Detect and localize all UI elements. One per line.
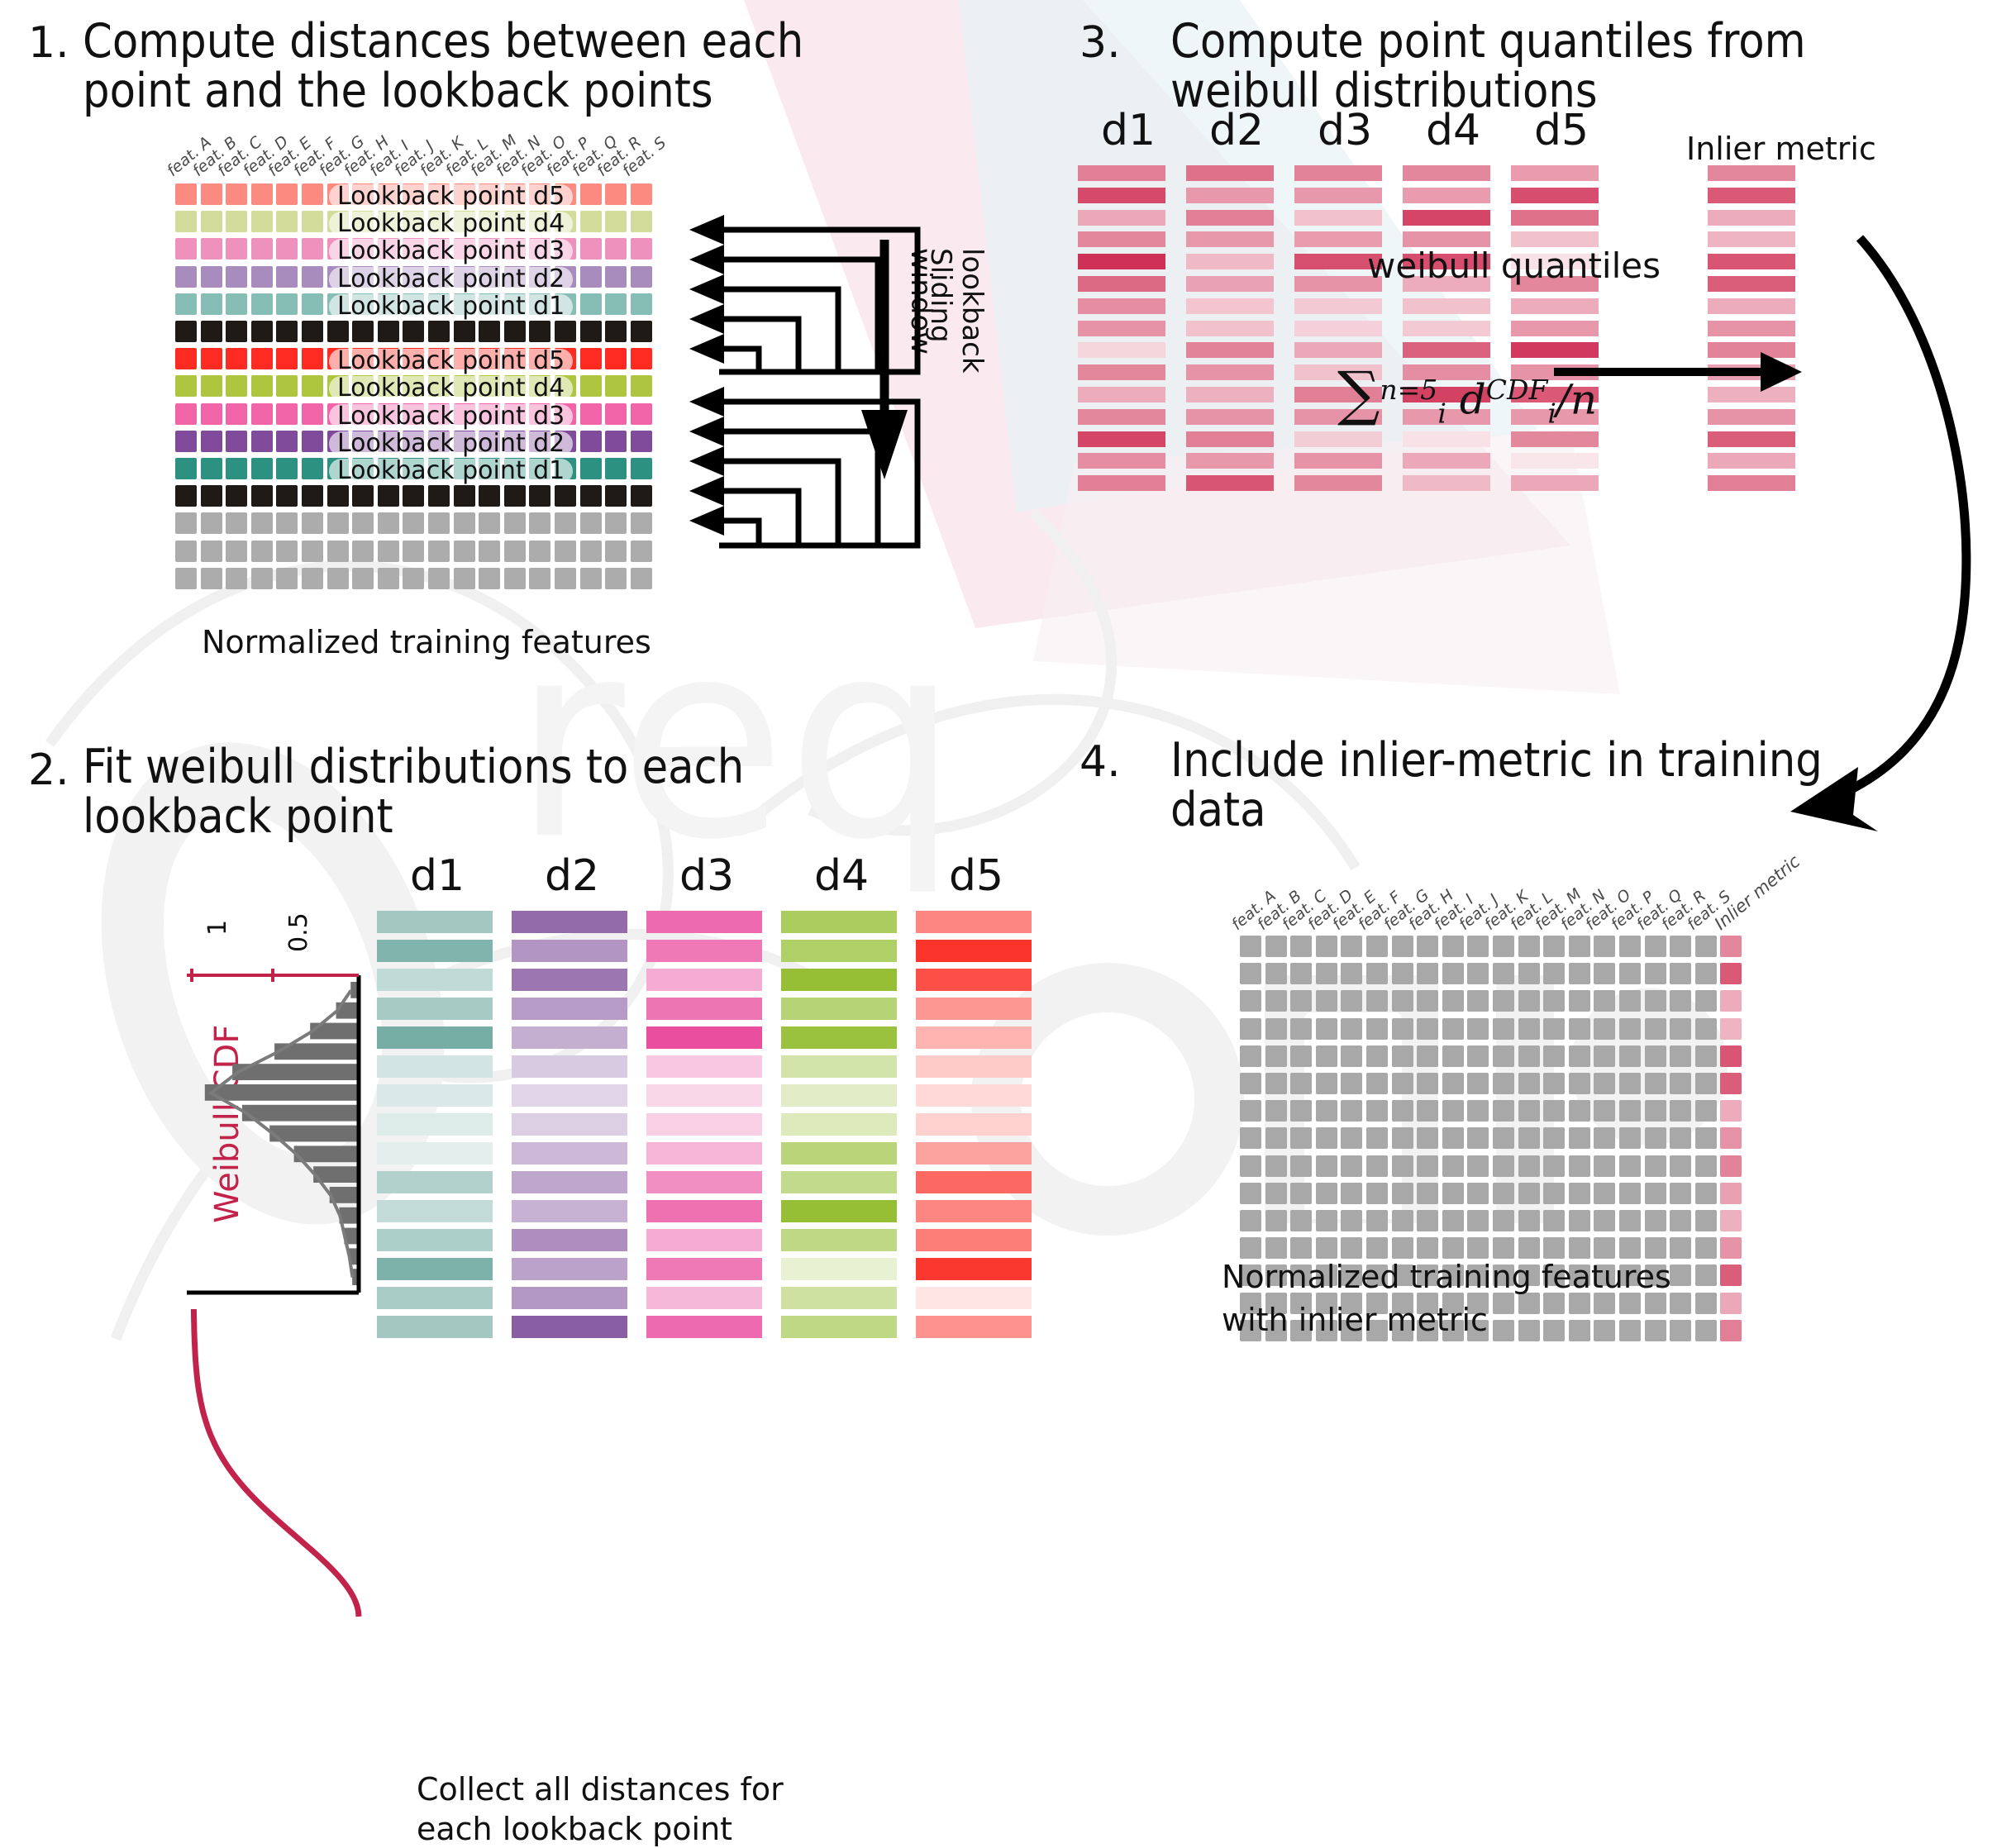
matrix-cell [1290,1210,1312,1231]
matrix-cell [1290,1155,1312,1177]
matrix-cell [1670,936,1691,957]
distance-bar [646,1084,762,1107]
lookback-row-label: Lookback point d2 [329,431,573,456]
matrix-cell [1619,1155,1641,1177]
distance-bar [916,1026,1032,1049]
panel-1-lookback-brackets [670,215,1017,579]
matrix-cell [175,458,197,479]
cdf-axis-tick-1: 1 [203,920,232,936]
matrix-cell [251,238,273,260]
matrix-cell [1290,1045,1312,1067]
matrix-cell [631,403,652,425]
matrix-cell [1569,1183,1590,1204]
matrix-cell [1569,1237,1590,1259]
quantile-column-label: d1 [1101,106,1156,155]
matrix-cell [1366,1237,1388,1259]
matrix-cell [1240,1073,1261,1094]
matrix-cell [276,458,298,479]
distance-bar [512,1200,627,1222]
matrix-cell [276,541,298,562]
matrix-cell [1240,990,1261,1012]
matrix-cell [403,485,424,507]
matrix-cell [251,375,273,397]
quantile-bar [1294,321,1382,336]
matrix-cell [1645,1155,1666,1177]
matrix-cell [352,541,374,562]
matrix-cell [631,211,652,232]
matrix-cell [1290,1183,1312,1204]
matrix-cell [251,568,273,589]
matrix-cell [1467,1100,1489,1122]
distance-bar [781,1287,897,1309]
lookback-row-label: Lookback point d3 [329,239,573,264]
matrix-cell [175,348,197,369]
matrix-cell [1543,1045,1565,1067]
matrix-cell [1442,990,1464,1012]
matrix-cell [1695,1045,1717,1067]
matrix-cell [302,211,323,232]
quantile-bar [1511,431,1599,447]
matrix-cell [1442,1045,1464,1067]
matrix-cell [1695,936,1717,957]
matrix-cell [1518,1127,1540,1149]
step-1-title-line2: point and the lookback points [83,66,713,117]
matrix-cell [1619,1018,1641,1040]
distance-bar [781,1142,897,1165]
matrix-cell [1493,1155,1514,1177]
quantile-bar [1186,409,1274,425]
matrix-cell [580,541,602,562]
quantile-bar [1186,210,1274,226]
distance-bar [916,1142,1032,1165]
inlier-metric-cell [1720,1210,1742,1231]
quantile-bar [1078,409,1165,425]
matrix-cell [1518,1210,1540,1231]
matrix-cell [1695,1293,1717,1314]
matrix-cell [175,403,197,425]
matrix-cell [1493,1018,1514,1040]
matrix-cell [1442,936,1464,957]
quantile-bar [1078,165,1165,181]
matrix-cell [226,238,247,260]
matrix-cell [175,211,197,232]
matrix-cell [1619,1320,1641,1341]
matrix-cell [1670,1293,1691,1314]
matrix-cell [251,266,273,288]
distance-column-label: d4 [814,851,869,901]
matrix-cell [1366,1183,1388,1204]
matrix-cell [302,431,323,452]
matrix-cell [403,512,424,534]
quantile-bar [1078,298,1165,314]
matrix-cell [1594,1155,1615,1177]
matrix-cell [276,485,298,507]
matrix-cell [1645,1073,1666,1094]
matrix-cell [1467,1045,1489,1067]
matrix-cell [631,375,652,397]
distance-bar [512,1026,627,1049]
matrix-cell [1417,1237,1438,1259]
distance-bar [916,1316,1032,1338]
matrix-cell [1392,1155,1413,1177]
matrix-cell [605,266,627,288]
matrix-cell [1467,1183,1489,1204]
matrix-cell [580,458,602,479]
matrix-cell [1543,936,1565,957]
matrix-cell [1543,1127,1565,1149]
matrix-cell [175,431,197,452]
matrix-cell [454,321,475,342]
matrix-cell [605,183,627,205]
matrix-cell [1366,963,1388,984]
matrix-cell [327,568,349,589]
distance-bar [512,1055,627,1078]
matrix-cell [580,375,602,397]
matrix-cell [378,541,399,562]
matrix-cell [580,266,602,288]
matrix-cell [1417,1045,1438,1067]
matrix-cell [276,403,298,425]
lookback-row-label: Lookback point d4 [329,212,573,236]
distance-bar [512,1084,627,1107]
matrix-cell [1467,963,1489,984]
quantile-bar [1294,188,1382,203]
quantile-bar [1294,431,1382,447]
matrix-cell [1366,1100,1388,1122]
matrix-cell [1670,1127,1691,1149]
formula-subscript: i [1437,398,1446,430]
matrix-cell [580,183,602,205]
matrix-cell [1392,936,1413,957]
matrix-cell [1442,1183,1464,1204]
panel-1-caption: Normalized training features [202,623,651,661]
matrix-cell [1619,1183,1641,1204]
matrix-cell [1341,1073,1362,1094]
quantile-bar [1186,254,1274,269]
inlier-metric-cell [1720,1183,1742,1204]
matrix-cell [1366,1155,1388,1177]
matrix-cell [504,568,526,589]
quantile-bar [1078,431,1165,447]
matrix-cell [201,348,222,369]
distance-bar [512,998,627,1020]
matrix-cell [175,321,197,342]
matrix-cell [1569,1155,1590,1177]
quantile-column-label: d3 [1318,106,1372,155]
matrix-cell [175,238,197,260]
distance-bar [377,1316,493,1338]
distance-bar [781,1316,897,1338]
matrix-cell [504,485,526,507]
matrix-cell [454,485,475,507]
matrix-cell [1518,990,1540,1012]
matrix-cell [1594,1045,1615,1067]
inlier-metric-cell [1720,1127,1742,1149]
matrix-cell [1518,1320,1540,1341]
inlier-metric-cell [1720,1293,1742,1314]
matrix-cell [226,403,247,425]
quantile-bar [1403,475,1490,491]
quantile-bar [1511,453,1599,469]
matrix-cell [175,183,197,205]
panel-2-overlay-line1: Collect all distances for [417,1770,784,1808]
quantile-bar [1078,453,1165,469]
matrix-cell [1518,963,1540,984]
panel-4-feature-header: feat. Afeat. Bfeat. Cfeat. Dfeat. Efeat.… [1240,876,1810,934]
matrix-cell [1265,936,1287,957]
lookback-row-label: Lookback point d1 [329,294,573,319]
matrix-cell [1316,936,1337,957]
matrix-cell [1341,963,1362,984]
matrix-cell [378,485,399,507]
matrix-cell [1493,1127,1514,1149]
matrix-cell [1594,1210,1615,1231]
matrix-cell [302,568,323,589]
matrix-cell [201,541,222,562]
quantile-bar [1078,342,1165,358]
matrix-cell [1543,1320,1565,1341]
matrix-cell [529,512,550,534]
distance-column-label: d1 [410,851,465,901]
matrix-cell [1467,1237,1489,1259]
matrix-cell [1316,963,1337,984]
matrix-cell [529,568,550,589]
matrix-cell [631,266,652,288]
quantile-bar [1511,165,1599,181]
matrix-cell [428,568,450,589]
matrix-cell [201,238,222,260]
matrix-cell [251,541,273,562]
matrix-cell [251,458,273,479]
quantile-bar [1078,321,1165,336]
matrix-cell [1240,1018,1261,1040]
matrix-cell [1265,1183,1287,1204]
distance-bar [512,940,627,962]
matrix-cell [1417,1100,1438,1122]
matrix-cell [226,485,247,507]
matrix-cell [327,485,349,507]
distance-bar [916,1258,1032,1280]
quantile-bar [1078,276,1165,292]
matrix-cell [1265,1155,1287,1177]
distance-bar [646,1026,762,1049]
matrix-cell [403,541,424,562]
matrix-cell [1366,990,1388,1012]
matrix-cell [1518,1045,1540,1067]
matrix-cell [352,321,374,342]
quantile-bar [1403,431,1490,447]
matrix-cell [580,321,602,342]
matrix-cell [1493,1100,1514,1122]
matrix-cell [1569,1073,1590,1094]
matrix-cell [175,293,197,315]
matrix-cell [1316,1237,1337,1259]
histogram-bar [269,1126,359,1142]
quantile-bar [1186,431,1274,447]
matrix-cell [1670,990,1691,1012]
matrix-cell [201,431,222,452]
matrix-cell [378,321,399,342]
matrix-cell [605,348,627,369]
quantile-bar [1186,165,1274,181]
distance-bar [512,1142,627,1165]
quantile-bar [1186,298,1274,314]
quantile-bar [1511,298,1599,314]
matrix-cell [1695,1265,1717,1286]
matrix-cell [226,348,247,369]
matrix-cell [226,375,247,397]
matrix-cell [302,183,323,205]
distance-bar [781,1258,897,1280]
matrix-cell [1341,1237,1362,1259]
matrix-cell [1240,1155,1261,1177]
matrix-cell [175,375,197,397]
matrix-cell [226,321,247,342]
matrix-cell [1594,936,1615,957]
matrix-cell [251,293,273,315]
sliding-window-arrow [860,240,959,504]
inlier-metric-cell [1720,990,1742,1012]
matrix-cell [201,512,222,534]
distance-bar [646,998,762,1020]
matrix-cell [302,238,323,260]
matrix-cell [1392,963,1413,984]
matrix-cell [1341,1155,1362,1177]
matrix-cell [175,568,197,589]
distance-bar [646,1055,762,1078]
quantile-column-label: d5 [1534,106,1589,155]
inlier-metric-cell [1720,1320,1742,1341]
matrix-cell [302,293,323,315]
distance-bar [781,1229,897,1251]
matrix-cell [251,485,273,507]
matrix-cell [1518,936,1540,957]
matrix-cell [1670,963,1691,984]
matrix-cell [529,321,550,342]
matrix-cell [251,431,273,452]
distance-bar [781,998,897,1020]
matrix-cell [1467,1127,1489,1149]
matrix-cell [1392,1210,1413,1231]
matrix-cell [1341,1018,1362,1040]
panel-1: 1. Compute distances between each point … [0,0,1017,711]
matrix-cell [1290,936,1312,957]
distance-bar [646,1113,762,1136]
matrix-cell [555,568,576,589]
distance-bar [512,1258,627,1280]
matrix-cell [479,321,500,342]
matrix-cell [1518,1018,1540,1040]
matrix-cell [175,266,197,288]
distance-bar [512,1229,627,1251]
panel-2: 2. Fit weibull distributions to each loo… [0,727,1017,1402]
matrix-cell [1467,1073,1489,1094]
matrix-cell [1569,1045,1590,1067]
matrix-cell [403,568,424,589]
lookback-row-label: Lookback point d4 [329,376,573,401]
step-2-title-line2: lookback point [83,792,393,843]
matrix-cell [504,541,526,562]
matrix-cell [605,238,627,260]
matrix-cell [1417,1155,1438,1177]
matrix-cell [1670,1045,1691,1067]
quantile-bar [1078,231,1165,247]
step-3-title-line1: Compute point quantiles from [1170,17,1806,68]
matrix-cell [479,568,500,589]
matrix-cell [1569,1210,1590,1231]
matrix-cell [1240,1100,1261,1122]
quantile-bar [1186,387,1274,402]
matrix-cell [1366,1210,1388,1231]
distance-bar [646,1171,762,1193]
matrix-cell [631,431,652,452]
quantile-column-label: d2 [1209,106,1264,155]
matrix-cell [276,183,298,205]
quantile-bar [1078,475,1165,491]
matrix-cell [1442,1210,1464,1231]
distance-bar [781,1055,897,1078]
quantile-column-label: d4 [1426,106,1480,155]
matrix-cell [1543,1183,1565,1204]
formula-body-subscript: i [1547,398,1556,430]
matrix-cell [1290,990,1312,1012]
matrix-cell [276,568,298,589]
matrix-cell [1442,1018,1464,1040]
matrix-cell [1442,1127,1464,1149]
distance-bar [916,1171,1032,1193]
distance-bar [916,969,1032,991]
matrix-cell [1341,936,1362,957]
matrix-cell [428,321,450,342]
matrix-cell [276,375,298,397]
matrix-cell [226,183,247,205]
inlier-metric-flow-arrow [1761,149,2016,851]
distance-bar [916,1055,1032,1078]
matrix-cell [302,541,323,562]
step-1-number: 1. [28,18,69,68]
histogram-bar [242,1105,359,1122]
distance-bar [512,1287,627,1309]
distance-bar [512,911,627,933]
quantile-bar [1294,342,1382,358]
matrix-cell [1695,1073,1717,1094]
quantile-bar [1294,298,1382,314]
matrix-cell [1695,1237,1717,1259]
matrix-cell [1619,936,1641,957]
matrix-cell [276,211,298,232]
matrix-cell [1543,1100,1565,1122]
matrix-cell [175,541,197,562]
matrix-cell [175,485,197,507]
matrix-cell [1695,1210,1717,1231]
matrix-cell [1518,1237,1540,1259]
matrix-cell [580,238,602,260]
inlier-metric-cell [1720,963,1742,984]
matrix-cell [1366,1045,1388,1067]
matrix-cell [201,375,222,397]
matrix-cell [302,348,323,369]
quantile-bar [1403,342,1490,358]
matrix-cell [1695,1100,1717,1122]
quantile-bar [1078,254,1165,269]
quantile-bar [1186,231,1274,247]
matrix-cell [1265,1073,1287,1094]
matrix-cell [1645,1045,1666,1067]
matrix-cell [201,266,222,288]
matrix-cell [1316,1018,1337,1040]
matrix-cell [580,512,602,534]
matrix-cell [1366,1018,1388,1040]
